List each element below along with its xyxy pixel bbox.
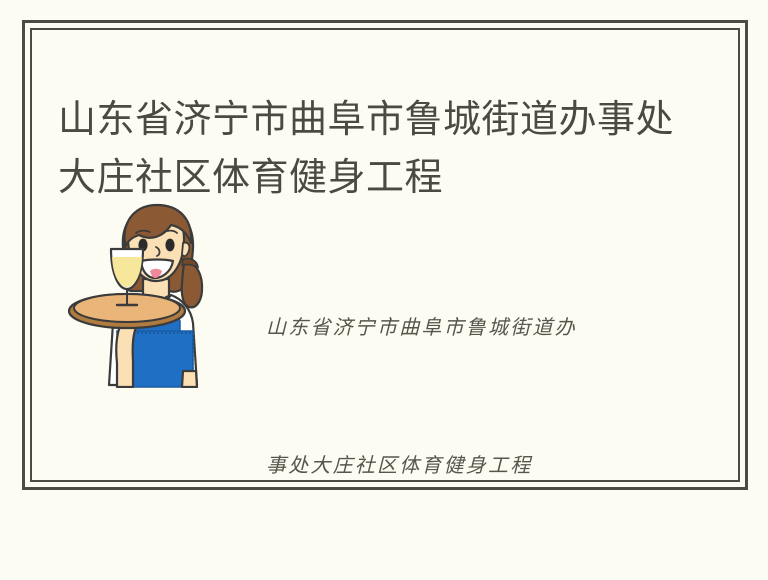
caption-text: 山东省济宁市曲阜市鲁城街道办 事处大庄社区体育健身工程: [266, 212, 686, 580]
caption-line-1: 山东省济宁市曲阜市鲁城街道办: [266, 304, 686, 350]
content-row: 山东省济宁市曲阜市鲁城街道办 事处大庄社区体育健身工程: [58, 198, 712, 398]
waitress-illustration: [65, 203, 213, 388]
certificate-card-inner-border: 山东省济宁市曲阜市鲁城街道办事处大庄社区体育健身工程: [30, 28, 740, 482]
waitress-with-tray-icon: [65, 203, 213, 388]
certificate-card-outer-border: 山东省济宁市曲阜市鲁城街道办事处大庄社区体育健身工程: [22, 20, 748, 490]
caption-line-2: 事处大庄社区体育健身工程: [266, 442, 686, 488]
page-title: 山东省济宁市曲阜市鲁城街道办事处大庄社区体育健身工程: [58, 91, 678, 207]
